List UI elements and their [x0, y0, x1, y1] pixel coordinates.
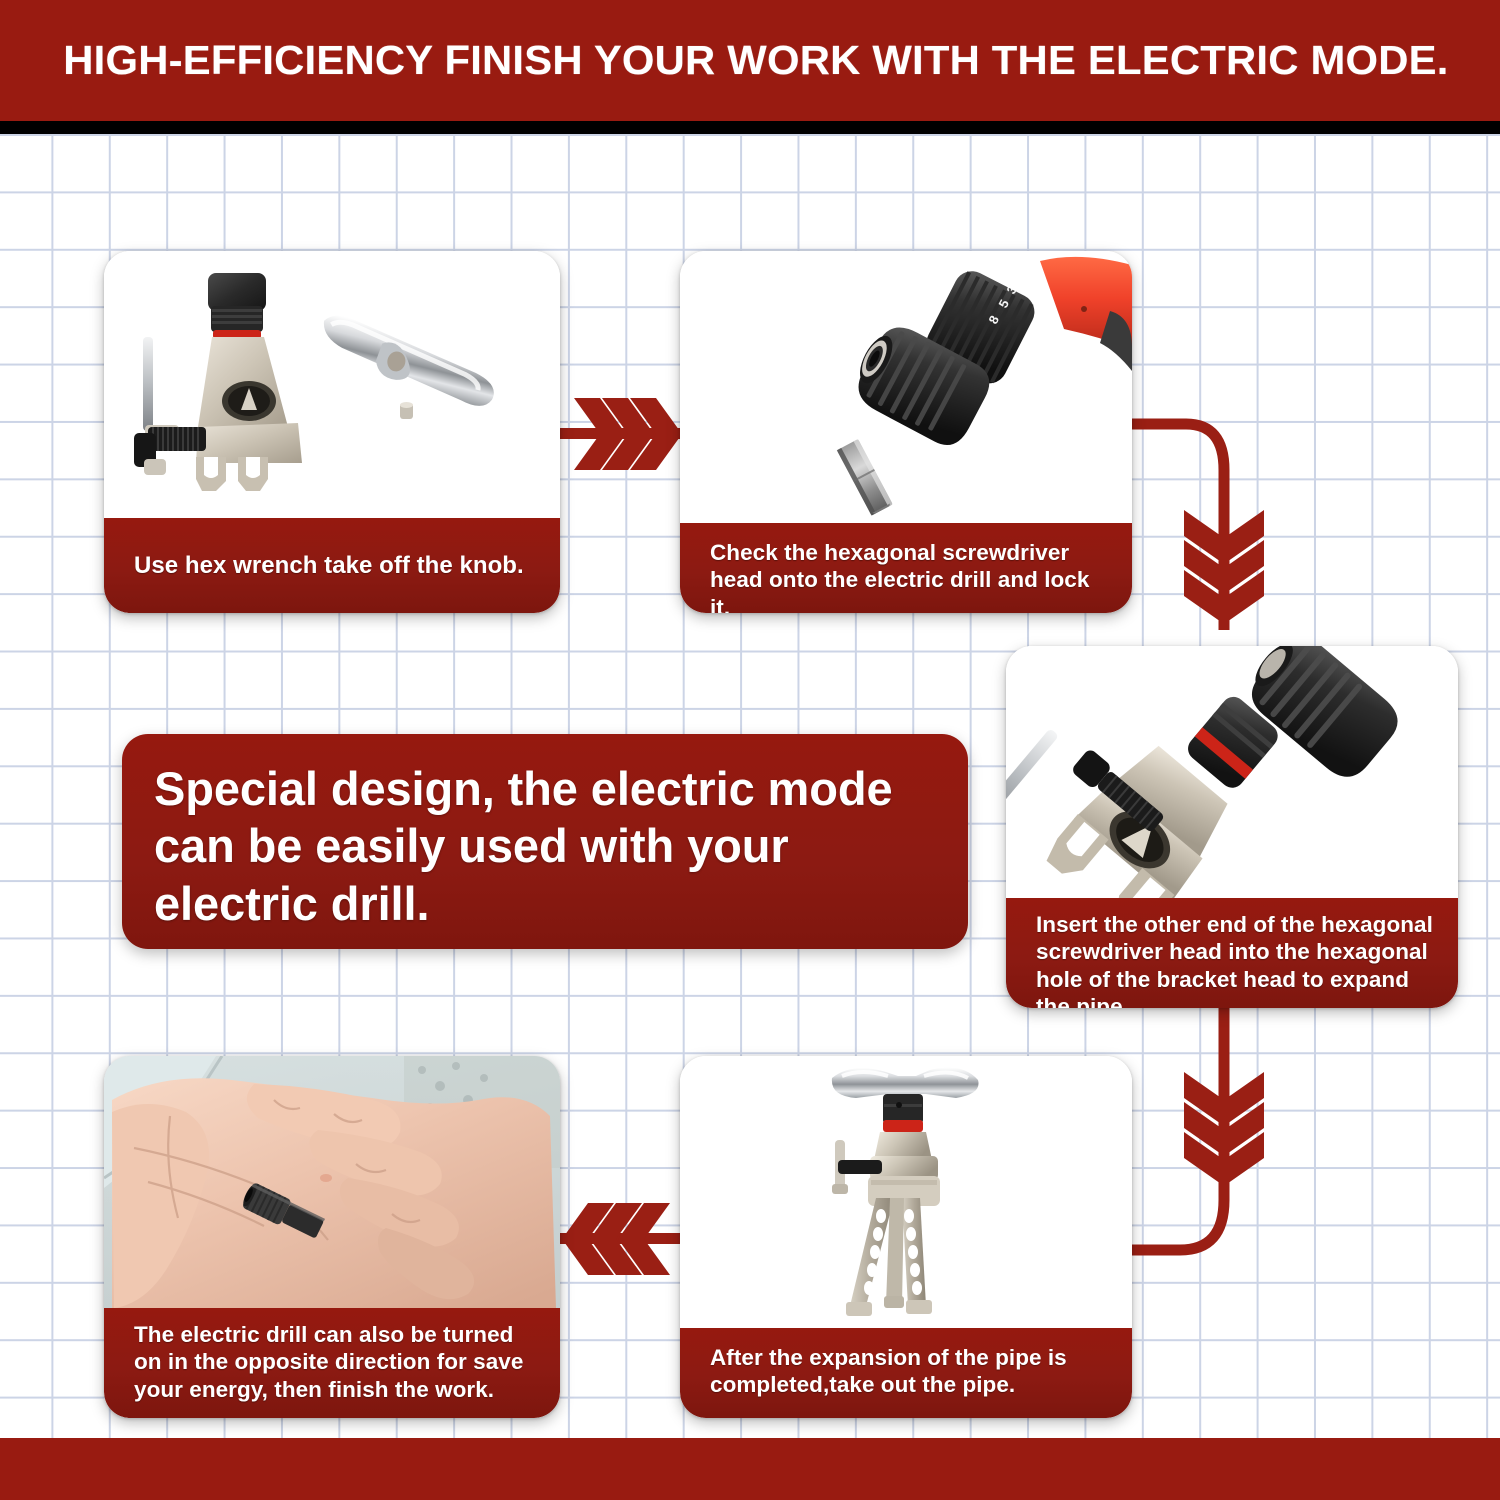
footer-banner: [0, 1438, 1500, 1500]
step-card-4: After the expansion of the pipe is compl…: [680, 1056, 1132, 1418]
step-card-2: 1 1 3 5 8: [680, 251, 1132, 613]
step-2-caption: Check the hexagonal screwdriver head ont…: [680, 523, 1132, 613]
step-3-photo: [1006, 646, 1458, 898]
arrow-down-elbow-left-icon: [1128, 1000, 1318, 1282]
step-3-caption: Insert the other end of the hexagonal sc…: [1006, 898, 1458, 1008]
statement-text: Special design, the electric mode can be…: [154, 760, 928, 932]
step-4-caption: After the expansion of the pipe is compl…: [680, 1328, 1132, 1418]
step-card-1: Use hex wrench take off the knob.: [104, 251, 560, 613]
arrow-right-icon: [556, 388, 688, 480]
statement-banner: Special design, the electric mode can be…: [122, 734, 968, 949]
step-2-photo: 1 1 3 5 8: [680, 251, 1132, 523]
step-card-3: Insert the other end of the hexagonal sc…: [1006, 646, 1458, 1008]
header-banner: HIGH-EFFICIENCY FINISH YOUR WORK WITH TH…: [0, 0, 1500, 121]
step-1-caption: Use hex wrench take off the knob.: [104, 518, 560, 613]
header-divider-rule: [0, 121, 1500, 134]
arrow-down-elbow-icon: [1128, 418, 1318, 630]
step-5-photo: [104, 1056, 560, 1308]
page-title: HIGH-EFFICIENCY FINISH YOUR WORK WITH TH…: [0, 37, 1449, 84]
step-4-photo: [680, 1056, 1132, 1328]
step-5-caption: The electric drill can also be turned on…: [104, 1308, 560, 1418]
step-1-photo: [104, 251, 560, 518]
step-card-5: The electric drill can also be turned on…: [104, 1056, 560, 1418]
arrow-left-icon: [556, 1193, 688, 1285]
